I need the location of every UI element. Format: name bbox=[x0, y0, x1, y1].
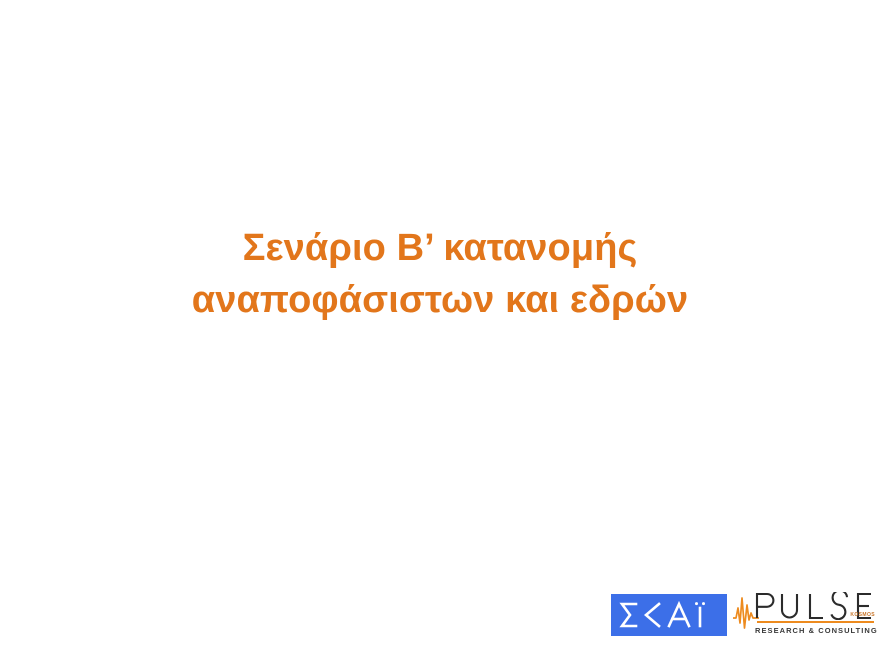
pulse-tagline: RESEARCH & CONSULTING bbox=[755, 625, 875, 636]
presentation-slide: Σενάριο Β’ κατανομής αναποφάσιστων και ε… bbox=[0, 0, 880, 660]
skai-wordmark-icon bbox=[619, 600, 719, 630]
pulse-logo: KOSMOS RESEARCH & CONSULTING bbox=[733, 588, 875, 642]
logo-strip: KOSMOS RESEARCH & CONSULTING bbox=[600, 586, 880, 644]
pulse-divider-rule bbox=[757, 621, 874, 623]
title-line-1: Σενάριο Β’ κατανομής bbox=[90, 222, 790, 274]
skai-logo bbox=[611, 594, 727, 636]
title-line-2: αναποφάσιστων και εδρών bbox=[90, 274, 790, 326]
slide-title: Σενάριο Β’ κατανομής αναποφάσιστων και ε… bbox=[90, 222, 790, 326]
pulse-kosmos-label: KOSMOS bbox=[850, 612, 875, 619]
